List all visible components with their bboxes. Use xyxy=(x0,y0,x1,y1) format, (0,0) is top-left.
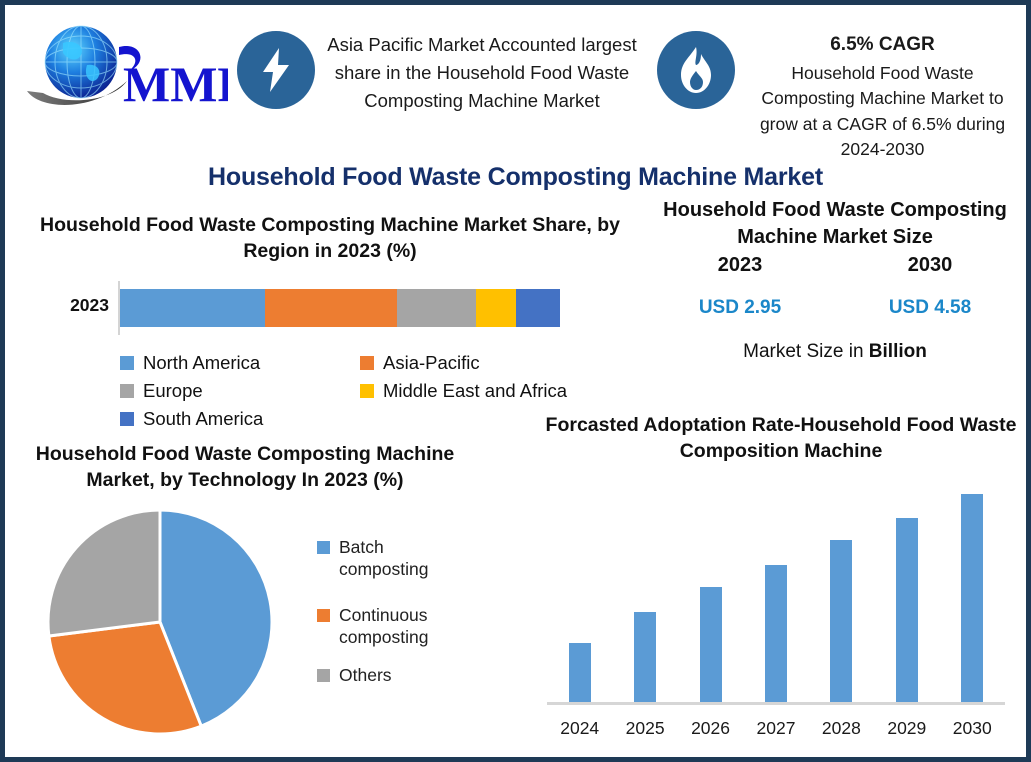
header: MMR Asia Pacific Market Accounted larges… xyxy=(5,5,1026,150)
pie-legend-item: Batch composting xyxy=(317,536,469,581)
region-legend-item: Asia-Pacific xyxy=(360,349,600,377)
forecast-x-label: 2028 xyxy=(809,718,874,739)
asia-pacific-callout-text: Asia Pacific Market Accounted largest sh… xyxy=(327,31,637,115)
market-size-unit: Market Size in Billion xyxy=(645,341,1025,363)
forecast-chart-baseline xyxy=(547,702,1005,705)
infographic-canvas: MMR Asia Pacific Market Accounted larges… xyxy=(0,0,1031,762)
market-size-values: USD 2.95 USD 4.58 xyxy=(645,297,1025,319)
region-chart-legend: North AmericaAsia-PacificEuropeMiddle Ea… xyxy=(120,349,600,433)
cagr-callout-text: 6.5% CAGR Household Food Waste Compostin… xyxy=(745,31,1020,162)
region-legend-label: North America xyxy=(143,352,260,374)
forecast-bar xyxy=(896,518,918,702)
legend-swatch-icon xyxy=(317,541,330,554)
market-size-title: Household Food Waste Composting Machine … xyxy=(645,197,1025,251)
legend-swatch-icon xyxy=(120,384,134,398)
market-size-year-right: 2030 xyxy=(835,254,1025,277)
flame-icon xyxy=(679,47,713,93)
region-legend-label: Asia-Pacific xyxy=(383,352,480,374)
forecast-panel: Forcasted Adoptation Rate-Household Food… xyxy=(535,413,1027,753)
asia-pacific-callout: Asia Pacific Market Accounted largest sh… xyxy=(237,31,641,115)
forecast-x-label: 2029 xyxy=(874,718,939,739)
pie-legend-item: Others xyxy=(317,664,392,686)
region-bar-segment xyxy=(516,289,560,327)
lightning-bolt-icon-circle xyxy=(237,31,315,109)
forecast-x-label: 2024 xyxy=(547,718,612,739)
pie-chart-body: Batch compostingContinuous compostingOth… xyxy=(25,502,545,742)
forecast-bar-column xyxy=(547,477,612,702)
market-size-unit-prefix: Market Size in xyxy=(743,341,869,362)
pie-slice xyxy=(48,510,160,636)
region-legend-item: North America xyxy=(120,349,360,377)
region-chart-plot: 2023 xyxy=(35,281,625,335)
market-size-year-left: 2023 xyxy=(645,254,835,277)
market-size-years: 2023 2030 xyxy=(645,254,1025,277)
legend-swatch-icon xyxy=(317,609,330,622)
forecast-x-label: 2027 xyxy=(743,718,808,739)
region-legend-label: South America xyxy=(143,408,263,430)
globe-swoosh-icon: MMR xyxy=(23,19,228,115)
forecast-chart-x-labels: 2024202520262027202820292030 xyxy=(547,718,1005,739)
market-size-panel: Household Food Waste Composting Machine … xyxy=(645,197,1025,363)
pie-chart-title: Household Food Waste Composting Machine … xyxy=(25,442,465,494)
forecast-chart-bars xyxy=(547,477,1005,702)
page-title: Household Food Waste Composting Machine … xyxy=(5,163,1026,192)
legend-swatch-icon xyxy=(360,384,374,398)
region-chart-category-label: 2023 xyxy=(35,295,109,316)
lightning-bolt-icon xyxy=(259,48,293,92)
forecast-x-label: 2030 xyxy=(940,718,1005,739)
forecast-chart-title: Forcasted Adoptation Rate-Household Food… xyxy=(535,413,1027,465)
forecast-bar xyxy=(700,587,722,702)
forecast-chart-plot: 2024202520262027202820292030 xyxy=(535,475,1027,705)
flame-icon-circle xyxy=(657,31,735,109)
pie-legend-item: Continuous composting xyxy=(317,604,469,649)
forecast-bar xyxy=(634,612,656,702)
cagr-callout: 6.5% CAGR Household Food Waste Compostin… xyxy=(657,31,1031,162)
forecast-bar xyxy=(830,540,852,702)
region-legend-label: Middle East and Africa xyxy=(383,380,567,402)
technology-share-panel: Household Food Waste Composting Machine … xyxy=(25,442,545,752)
region-legend-item: South America xyxy=(120,405,360,433)
market-size-value-right: USD 4.58 xyxy=(835,297,1025,319)
market-size-value-left: USD 2.95 xyxy=(645,297,835,319)
forecast-bar xyxy=(765,565,787,702)
svg-text:MMR: MMR xyxy=(123,56,228,112)
pie-legend-label: Batch composting xyxy=(339,536,469,581)
region-bar-segment xyxy=(476,289,516,327)
forecast-x-label: 2026 xyxy=(678,718,743,739)
legend-swatch-icon xyxy=(317,669,330,682)
pie-legend-label: Continuous composting xyxy=(339,604,469,649)
region-stacked-bar xyxy=(120,289,560,327)
forecast-bar xyxy=(569,643,591,702)
region-bar-segment xyxy=(120,289,265,327)
region-bar-segment xyxy=(265,289,397,327)
region-legend-item: Europe xyxy=(120,377,360,405)
forecast-bar-column xyxy=(940,477,1005,702)
region-bar-segment xyxy=(397,289,476,327)
forecast-bar-column xyxy=(809,477,874,702)
region-chart-title: Household Food Waste Composting Machine … xyxy=(35,213,625,265)
pie-legend-label: Others xyxy=(339,664,392,686)
forecast-bar xyxy=(961,494,983,702)
cagr-headline: 6.5% CAGR xyxy=(745,31,1020,60)
forecast-bar-column xyxy=(874,477,939,702)
legend-swatch-icon xyxy=(120,356,134,370)
forecast-x-label: 2025 xyxy=(612,718,677,739)
pie-chart xyxy=(45,504,290,739)
forecast-bar-column xyxy=(612,477,677,702)
legend-swatch-icon xyxy=(360,356,374,370)
forecast-bar-column xyxy=(743,477,808,702)
region-legend-label: Europe xyxy=(143,380,203,402)
region-legend-item: Middle East and Africa xyxy=(360,377,600,405)
market-size-unit-bold: Billion xyxy=(869,341,927,362)
region-share-panel: Household Food Waste Composting Machine … xyxy=(35,213,625,423)
mmr-logo: MMR xyxy=(23,19,228,115)
legend-swatch-icon xyxy=(120,412,134,426)
cagr-body: Household Food Waste Composting Machine … xyxy=(745,61,1020,163)
forecast-bar-column xyxy=(678,477,743,702)
